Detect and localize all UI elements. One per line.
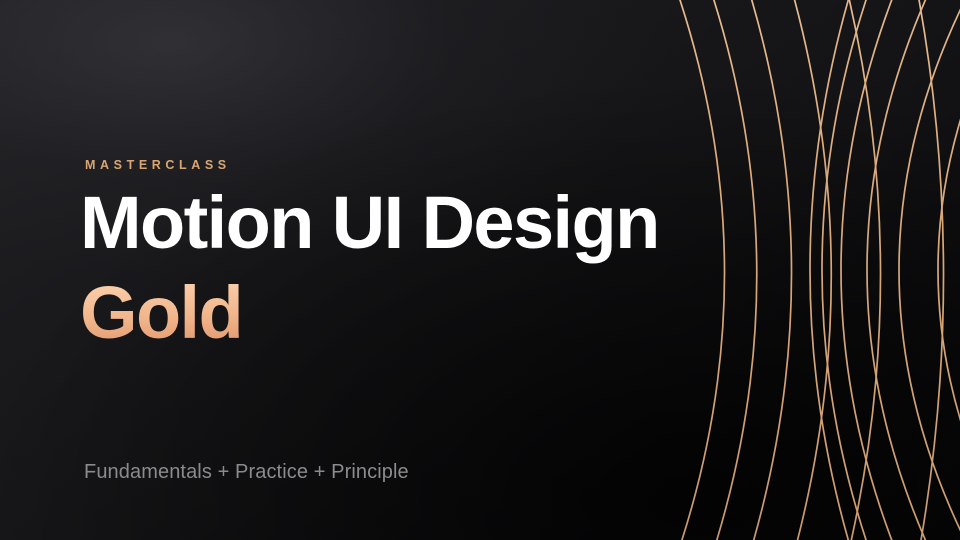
page-title: Motion UI Design (80, 186, 659, 260)
presentation-slide: MASTERCLASS Motion UI Design Gold Fundam… (0, 0, 960, 540)
text-content-block: MASTERCLASS Motion UI Design Gold Fundam… (84, 0, 744, 540)
eyebrow-label: MASTERCLASS (85, 158, 231, 172)
page-title-accent: Gold (80, 276, 242, 350)
subtitle: Fundamentals + Practice + Principle (84, 461, 409, 484)
